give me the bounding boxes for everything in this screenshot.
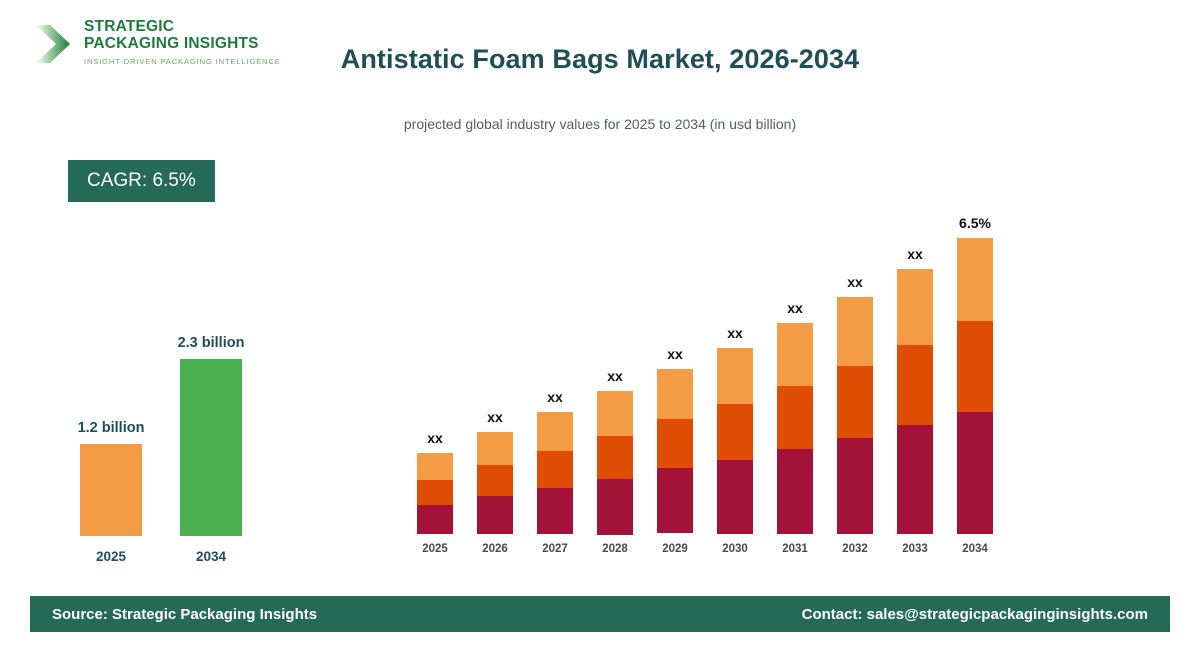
footer-contact: Contact: sales@strategicpackaginginsight… xyxy=(802,606,1148,623)
stacked-bar-segment-segment-top[interactable] xyxy=(477,432,513,465)
brand-logo-text: STRATEGIC PACKAGING INSIGHTS INSIGHT-DRI… xyxy=(84,18,281,66)
stacked-bar-column: xx2030 xyxy=(717,344,753,534)
stacked-bar-segment-segment-bottom[interactable] xyxy=(417,505,453,534)
stacked-bar-top-label: xx xyxy=(810,274,900,290)
stacked-bar[interactable] xyxy=(957,238,993,534)
stacked-bar-segment-segment-middle[interactable] xyxy=(417,480,453,505)
stacked-bar-column: xx2029 xyxy=(657,365,693,534)
start-vs-end-comparison-chart: 1.2 billion20252.3 billion2034 xyxy=(40,300,290,570)
stacked-bar-top-label: xx xyxy=(510,389,600,405)
stacked-bar-column: xx2032 xyxy=(837,293,873,534)
comparison-bar[interactable] xyxy=(80,444,142,536)
stacked-bar-segment-segment-middle[interactable] xyxy=(657,419,693,468)
stacked-bar-top-label: xx xyxy=(570,368,660,384)
stacked-bar-segment-segment-middle[interactable] xyxy=(537,451,573,488)
comparison-bar[interactable] xyxy=(180,359,242,536)
stacked-bar-top-label: xx xyxy=(690,325,780,341)
brand-name-line-1: STRATEGIC xyxy=(84,18,281,35)
cagr-badge: CAGR: 6.5% xyxy=(68,160,215,202)
stacked-bar[interactable] xyxy=(897,269,933,534)
stacked-bar-column: xx2026 xyxy=(477,428,513,534)
stacked-bar-segment-segment-middle[interactable] xyxy=(777,386,813,449)
comparison-year-label: 2034 xyxy=(141,549,281,564)
stacked-bar-top-label: xx xyxy=(750,300,840,316)
brand-logo: STRATEGIC PACKAGING INSIGHTS INSIGHT-DRI… xyxy=(30,16,250,74)
stacked-bar-segment-segment-bottom[interactable] xyxy=(477,496,513,534)
stacked-bar-segment-segment-top[interactable] xyxy=(717,348,753,404)
comparison-column: 2.3 billion2034 xyxy=(180,355,242,536)
stacked-bar[interactable] xyxy=(477,432,513,534)
stacked-bar-top-label: xx xyxy=(870,246,960,262)
yearly-stacked-forecast-chart: xx2025xx2026xx2027xx2028xx2029xx2030xx20… xyxy=(405,200,1010,560)
stacked-bar-top-label: xx xyxy=(630,346,720,362)
stacked-bar-column: xx2033 xyxy=(897,265,933,534)
stacked-bar[interactable] xyxy=(717,348,753,534)
stacked-bar-top-label: xx xyxy=(450,409,540,425)
stacked-bar-segment-segment-bottom[interactable] xyxy=(537,488,573,534)
stacked-bar-segment-segment-top[interactable] xyxy=(597,391,633,436)
stacked-bar-segment-segment-bottom[interactable] xyxy=(717,460,753,534)
stacked-bar-segment-segment-top[interactable] xyxy=(657,369,693,419)
stacked-bar-segment-segment-middle[interactable] xyxy=(717,404,753,460)
stacked-bar-column: xx2028 xyxy=(597,387,633,534)
stacked-bar-segment-segment-middle[interactable] xyxy=(957,321,993,412)
stacked-bar-column: xx2031 xyxy=(777,319,813,534)
stacked-bar[interactable] xyxy=(657,369,693,534)
stacked-bar[interactable] xyxy=(537,412,573,534)
stacked-bar-segment-segment-bottom[interactable] xyxy=(837,438,873,534)
stacked-bar-segment-segment-middle[interactable] xyxy=(897,345,933,425)
chart-infographic: STRATEGIC PACKAGING INSIGHTS INSIGHT-DRI… xyxy=(0,0,1200,650)
green-chevron-logo-icon xyxy=(30,20,78,68)
stacked-bar-column: xx2025 xyxy=(417,449,453,534)
stacked-bar-segment-segment-top[interactable] xyxy=(417,453,453,480)
brand-tagline: INSIGHT-DRIVEN PACKAGING INTELLIGENCE xyxy=(84,57,281,66)
brand-name-line-2: PACKAGING INSIGHTS xyxy=(84,35,281,52)
stacked-bar[interactable] xyxy=(417,453,453,534)
stacked-bar-segment-segment-top[interactable] xyxy=(897,269,933,345)
footer-source: Source: Strategic Packaging Insights xyxy=(52,606,317,623)
stacked-bar-column: xx2027 xyxy=(537,408,573,534)
stacked-bar-segment-segment-bottom[interactable] xyxy=(597,479,633,535)
stacked-bar[interactable] xyxy=(777,323,813,534)
stacked-bar[interactable] xyxy=(597,391,633,534)
stacked-bar-year-label: 2034 xyxy=(930,543,1020,555)
stacked-bar-segment-segment-middle[interactable] xyxy=(477,465,513,496)
stacked-bar-segment-segment-bottom[interactable] xyxy=(957,412,993,534)
stacked-bar-segment-segment-bottom[interactable] xyxy=(657,468,693,533)
comparison-value-label: 1.2 billion xyxy=(21,420,201,436)
stacked-bar-segment-segment-middle[interactable] xyxy=(597,436,633,479)
stacked-bar-segment-segment-top[interactable] xyxy=(957,238,993,321)
stacked-bar-column: 6.5%2034 xyxy=(957,234,993,534)
stacked-bar-top-label: 6.5% xyxy=(930,215,1020,231)
page-subtitle: projected global industry values for 202… xyxy=(260,116,940,132)
page-title: Antistatic Foam Bags Market, 2026-2034 xyxy=(260,44,940,75)
stacked-bar-segment-segment-bottom[interactable] xyxy=(777,449,813,534)
footer-bar: Source: Strategic Packaging Insights Con… xyxy=(30,596,1170,632)
stacked-bar-segment-segment-bottom[interactable] xyxy=(897,425,933,534)
stacked-bar-segment-segment-top[interactable] xyxy=(777,323,813,386)
stacked-bar-segment-segment-top[interactable] xyxy=(537,412,573,451)
stacked-bar-segment-segment-top[interactable] xyxy=(837,297,873,366)
stacked-bar-top-label: xx xyxy=(390,430,480,446)
stacked-bar[interactable] xyxy=(837,297,873,534)
comparison-column: 1.2 billion2025 xyxy=(80,440,142,536)
comparison-value-label: 2.3 billion xyxy=(121,335,301,351)
stacked-bar-segment-segment-middle[interactable] xyxy=(837,366,873,438)
